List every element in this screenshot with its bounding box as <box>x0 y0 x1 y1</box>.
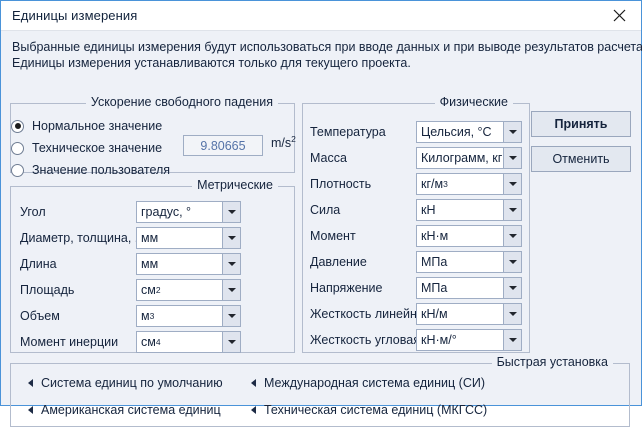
physical-label-temperature: Температура <box>310 121 386 143</box>
metric-label-length: Длина <box>20 253 57 275</box>
radio-label: Нормальное значение <box>32 119 162 133</box>
radio-technical-value[interactable]: Техническое значение <box>11 139 162 157</box>
accept-button[interactable]: Принять <box>531 111 631 137</box>
window-title: Единицы измерения <box>1 8 137 23</box>
physical-combo-pressure[interactable]: МПа <box>416 251 522 273</box>
field-label: Жесткость линейная <box>310 307 431 321</box>
combo-value: кг/м3 <box>417 174 503 194</box>
field-label: Давление <box>310 255 367 269</box>
quick-setup-group: Быстрая установка <box>10 363 630 427</box>
metric-combo-moment-of-inertia[interactable]: см4 <box>136 331 241 353</box>
chevron-down-icon[interactable] <box>503 330 521 350</box>
field-label: Момент <box>310 229 356 243</box>
metric-label-area: Площадь <box>20 279 74 301</box>
field-label: Площадь <box>20 283 74 297</box>
combo-value: кН·м <box>417 226 503 246</box>
chevron-down-icon[interactable] <box>222 306 240 326</box>
physical-combo-linear-stiffness[interactable]: кН/м <box>416 303 522 325</box>
dialog-body: Выбранные единицы измерения будут исполь… <box>1 31 641 405</box>
metric-combo-length[interactable]: мм <box>136 253 241 275</box>
units-dialog: Единицы измерения Выбранные единицы изме… <box>0 0 642 406</box>
chevron-down-icon[interactable] <box>222 228 240 248</box>
physical-combo-angular-stiffness[interactable]: кН·м/° <box>416 329 522 351</box>
combo-value: см4 <box>137 332 222 352</box>
combo-value: МПа <box>417 278 503 298</box>
physical-label-angular-stiffness: Жесткость угловая <box>310 329 420 351</box>
radio-normal-value[interactable]: Нормальное значение <box>11 117 162 135</box>
field-label: Длина <box>20 257 57 271</box>
physical-combo-force[interactable]: кН <box>416 199 522 221</box>
radio-indicator <box>11 164 24 177</box>
radio-indicator <box>11 120 24 133</box>
chevron-down-icon[interactable] <box>503 174 521 194</box>
field-label: Плотность <box>310 177 371 191</box>
metric-combo-area[interactable]: см2 <box>136 279 241 301</box>
field-label: Жесткость угловая <box>310 333 420 347</box>
combo-value: м3 <box>137 306 222 326</box>
triangle-left-icon <box>251 406 256 414</box>
combo-value: Цельсия, °С <box>417 122 503 142</box>
combo-value: МПа <box>417 252 503 272</box>
title-bar: Единицы измерения <box>1 1 641 31</box>
close-icon[interactable] <box>597 1 641 30</box>
intro-line-2: Единицы измерения устанавливаются только… <box>12 55 632 71</box>
intro-line-1: Выбранные единицы измерения будут исполь… <box>12 39 632 55</box>
field-label: Угол <box>20 205 46 219</box>
quick-link-default-units[interactable]: Система единиц по умолчанию <box>28 376 223 390</box>
chevron-down-icon[interactable] <box>503 200 521 220</box>
physical-label-pressure: Давление <box>310 251 367 273</box>
metric-combo-volume[interactable]: м3 <box>136 305 241 327</box>
quick-link-technical-units[interactable]: Техническая система единиц (МКГСС) <box>251 403 487 417</box>
field-label: Температура <box>310 125 386 139</box>
radio-indicator <box>11 142 24 155</box>
metric-group-title: Метрические <box>192 178 278 192</box>
chevron-down-icon[interactable] <box>222 332 240 352</box>
radio-user-value[interactable]: Значение пользователя <box>11 161 170 179</box>
field-label: Диаметр, толщина, ... <box>20 231 145 245</box>
gravity-unit-label: m/s2 <box>271 136 296 150</box>
metric-label-angle: Угол <box>20 201 46 223</box>
combo-value: см2 <box>137 280 222 300</box>
field-label: Момент инерции <box>20 335 118 349</box>
triangle-left-icon <box>251 379 256 387</box>
quick-setup-group-title: Быстрая установка <box>492 355 613 369</box>
combo-value: кН·м/° <box>417 330 503 350</box>
combo-value: Килограмм, кг <box>417 148 503 168</box>
metric-label-diameter: Диаметр, толщина, ... <box>20 227 145 249</box>
field-label: Объем <box>20 309 60 323</box>
physical-combo-density[interactable]: кг/м3 <box>416 173 522 195</box>
combo-value: градус, ° <box>137 202 222 222</box>
gravity-value-input[interactable]: 9.80665 <box>183 135 263 156</box>
physical-group-title: Физические <box>435 95 513 109</box>
intro-text: Выбранные единицы измерения будут исполь… <box>12 39 632 71</box>
combo-value: мм <box>137 228 222 248</box>
combo-value: мм <box>137 254 222 274</box>
gravity-group-title: Ускорение свободного падения <box>86 95 278 109</box>
chevron-down-icon[interactable] <box>503 148 521 168</box>
cancel-button[interactable]: Отменить <box>531 146 631 172</box>
physical-label-density: Плотность <box>310 173 371 195</box>
triangle-left-icon <box>28 406 33 414</box>
triangle-left-icon <box>28 379 33 387</box>
field-label: Напряжение <box>310 281 382 295</box>
chevron-down-icon[interactable] <box>222 202 240 222</box>
chevron-down-icon[interactable] <box>222 280 240 300</box>
metric-label-volume: Объем <box>20 305 60 327</box>
physical-combo-temperature[interactable]: Цельсия, °С <box>416 121 522 143</box>
chevron-down-icon[interactable] <box>503 122 521 142</box>
metric-label-moment-of-inertia: Момент инерции <box>20 331 118 353</box>
metric-combo-diameter[interactable]: мм <box>136 227 241 249</box>
combo-value: кН/м <box>417 304 503 324</box>
chevron-down-icon[interactable] <box>503 226 521 246</box>
quick-link-label: Система единиц по умолчанию <box>41 376 223 390</box>
combo-value: кН <box>417 200 503 220</box>
physical-label-stress: Напряжение <box>310 277 382 299</box>
radio-label: Значение пользователя <box>32 163 170 177</box>
radio-label: Техническое значение <box>32 141 162 155</box>
quick-link-label: Американская система единиц <box>41 403 221 417</box>
physical-combo-moment[interactable]: кН·м <box>416 225 522 247</box>
chevron-down-icon[interactable] <box>503 278 521 298</box>
physical-combo-stress[interactable]: МПа <box>416 277 522 299</box>
quick-link-label: Международная система единиц (СИ) <box>264 376 485 390</box>
field-label: Масса <box>310 151 347 165</box>
chevron-down-icon[interactable] <box>222 254 240 274</box>
physical-label-linear-stiffness: Жесткость линейная <box>310 303 431 325</box>
quick-link-si-units[interactable]: Международная система единиц (СИ) <box>251 376 485 390</box>
quick-link-label: Техническая система единиц (МКГСС) <box>264 403 487 417</box>
metric-combo-angle[interactable]: градус, ° <box>136 201 241 223</box>
quick-link-american-units[interactable]: Американская система единиц <box>28 403 221 417</box>
chevron-down-icon[interactable] <box>503 304 521 324</box>
physical-label-moment: Момент <box>310 225 356 247</box>
physical-label-mass: Масса <box>310 147 347 169</box>
physical-label-force: Сила <box>310 199 340 221</box>
field-label: Сила <box>310 203 340 217</box>
physical-combo-mass[interactable]: Килограмм, кг <box>416 147 522 169</box>
chevron-down-icon[interactable] <box>503 252 521 272</box>
